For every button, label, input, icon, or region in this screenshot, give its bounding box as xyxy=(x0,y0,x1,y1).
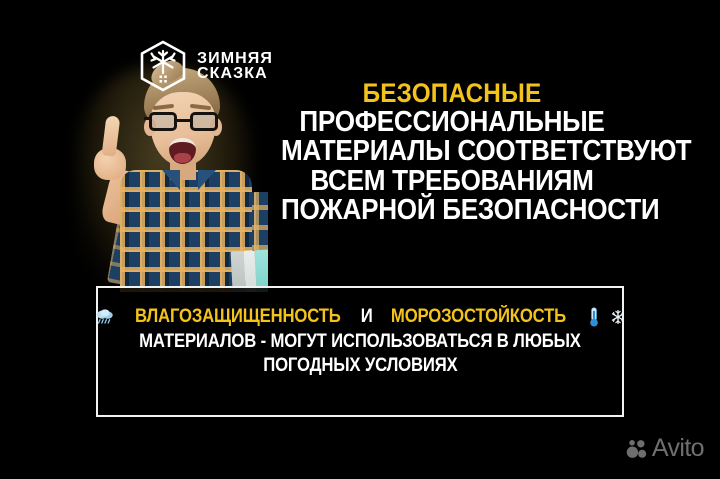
brand-name: ЗИМНЯЯ СКАЗКА xyxy=(197,51,273,82)
glasses-bridge xyxy=(177,119,190,122)
avito-wordmark: Avito xyxy=(652,434,704,463)
headline-block: БЕЗОПАСНЫЕ ПРОФЕССИОНАЛЬНЫЕ МАТЕРИАЛЫ СО… xyxy=(262,80,642,226)
features-line-2-text: МАТЕРИАЛОВ - МОГУТ ИСПОЛЬЗОВАТЬСЯ В ЛЮБЫ… xyxy=(139,331,581,353)
features-box: ВЛАГОЗАЩИЩЕННОСТЬ И МОРОЗОСТОЙКОСТЬ xyxy=(96,286,624,417)
headline-line-4: ВСЕМ ТРЕБОВАНИЯМ xyxy=(281,167,623,197)
collar-right xyxy=(198,170,216,190)
hexagon-snowflake-icon xyxy=(138,40,188,92)
feature-water-resistance: ВЛАГОЗАЩИЩЕННОСТЬ xyxy=(136,306,342,328)
feature-conjunction: И xyxy=(361,306,373,328)
collar-left xyxy=(162,170,180,190)
glasses-lens-right xyxy=(190,112,218,131)
glasses-lens-left xyxy=(149,112,177,131)
glasses-icon xyxy=(149,112,218,132)
features-line-3: ПОГОДНЫХ УСЛОВИЯХ xyxy=(250,355,471,377)
avito-dots-icon xyxy=(626,438,648,460)
brand-logo: ЗИМНЯЯ СКАЗКА xyxy=(138,40,273,92)
promo-banner: ЗИМНЯЯ СКАЗКА БЕЗОПАСНЫЕ ПРОФЕССИОНАЛЬНЫ… xyxy=(0,0,720,479)
headline-line-5: ПОЖАРНОЙ БЕЗОПАСНОСТИ xyxy=(281,196,623,226)
rain-cloud-icon xyxy=(94,306,116,328)
brand-name-line1: ЗИМНЯЯ xyxy=(197,51,273,66)
thermometer-icon xyxy=(583,306,605,328)
avito-watermark: Avito xyxy=(626,434,704,463)
headline-line-3: МАТЕРИАЛЫ СООТВЕТСТВУЮТ xyxy=(281,137,623,167)
brand-name-line2: СКАЗКА xyxy=(197,66,273,81)
tongue xyxy=(174,153,191,163)
snowflake-icon xyxy=(610,309,626,325)
feature-frost-resistance: МОРОЗОСТОЙКОСТЬ xyxy=(390,306,565,328)
features-line-2: МАТЕРИАЛОВ - МОГУТ ИСПОЛЬЗОВАТЬСЯ В ЛЮБЫ… xyxy=(109,331,611,353)
headline-line-1: БЕЗОПАСНЫЕ xyxy=(281,80,623,108)
headline-line-2: ПРОФЕССИОНАЛЬНЫЕ xyxy=(281,108,623,138)
features-line-3-text: ПОГОДНЫХ УСЛОВИЯХ xyxy=(263,355,457,377)
features-line-1: ВЛАГОЗАЩИЩЕННОСТЬ И МОРОЗОСТОЙКОСТЬ xyxy=(94,306,625,328)
